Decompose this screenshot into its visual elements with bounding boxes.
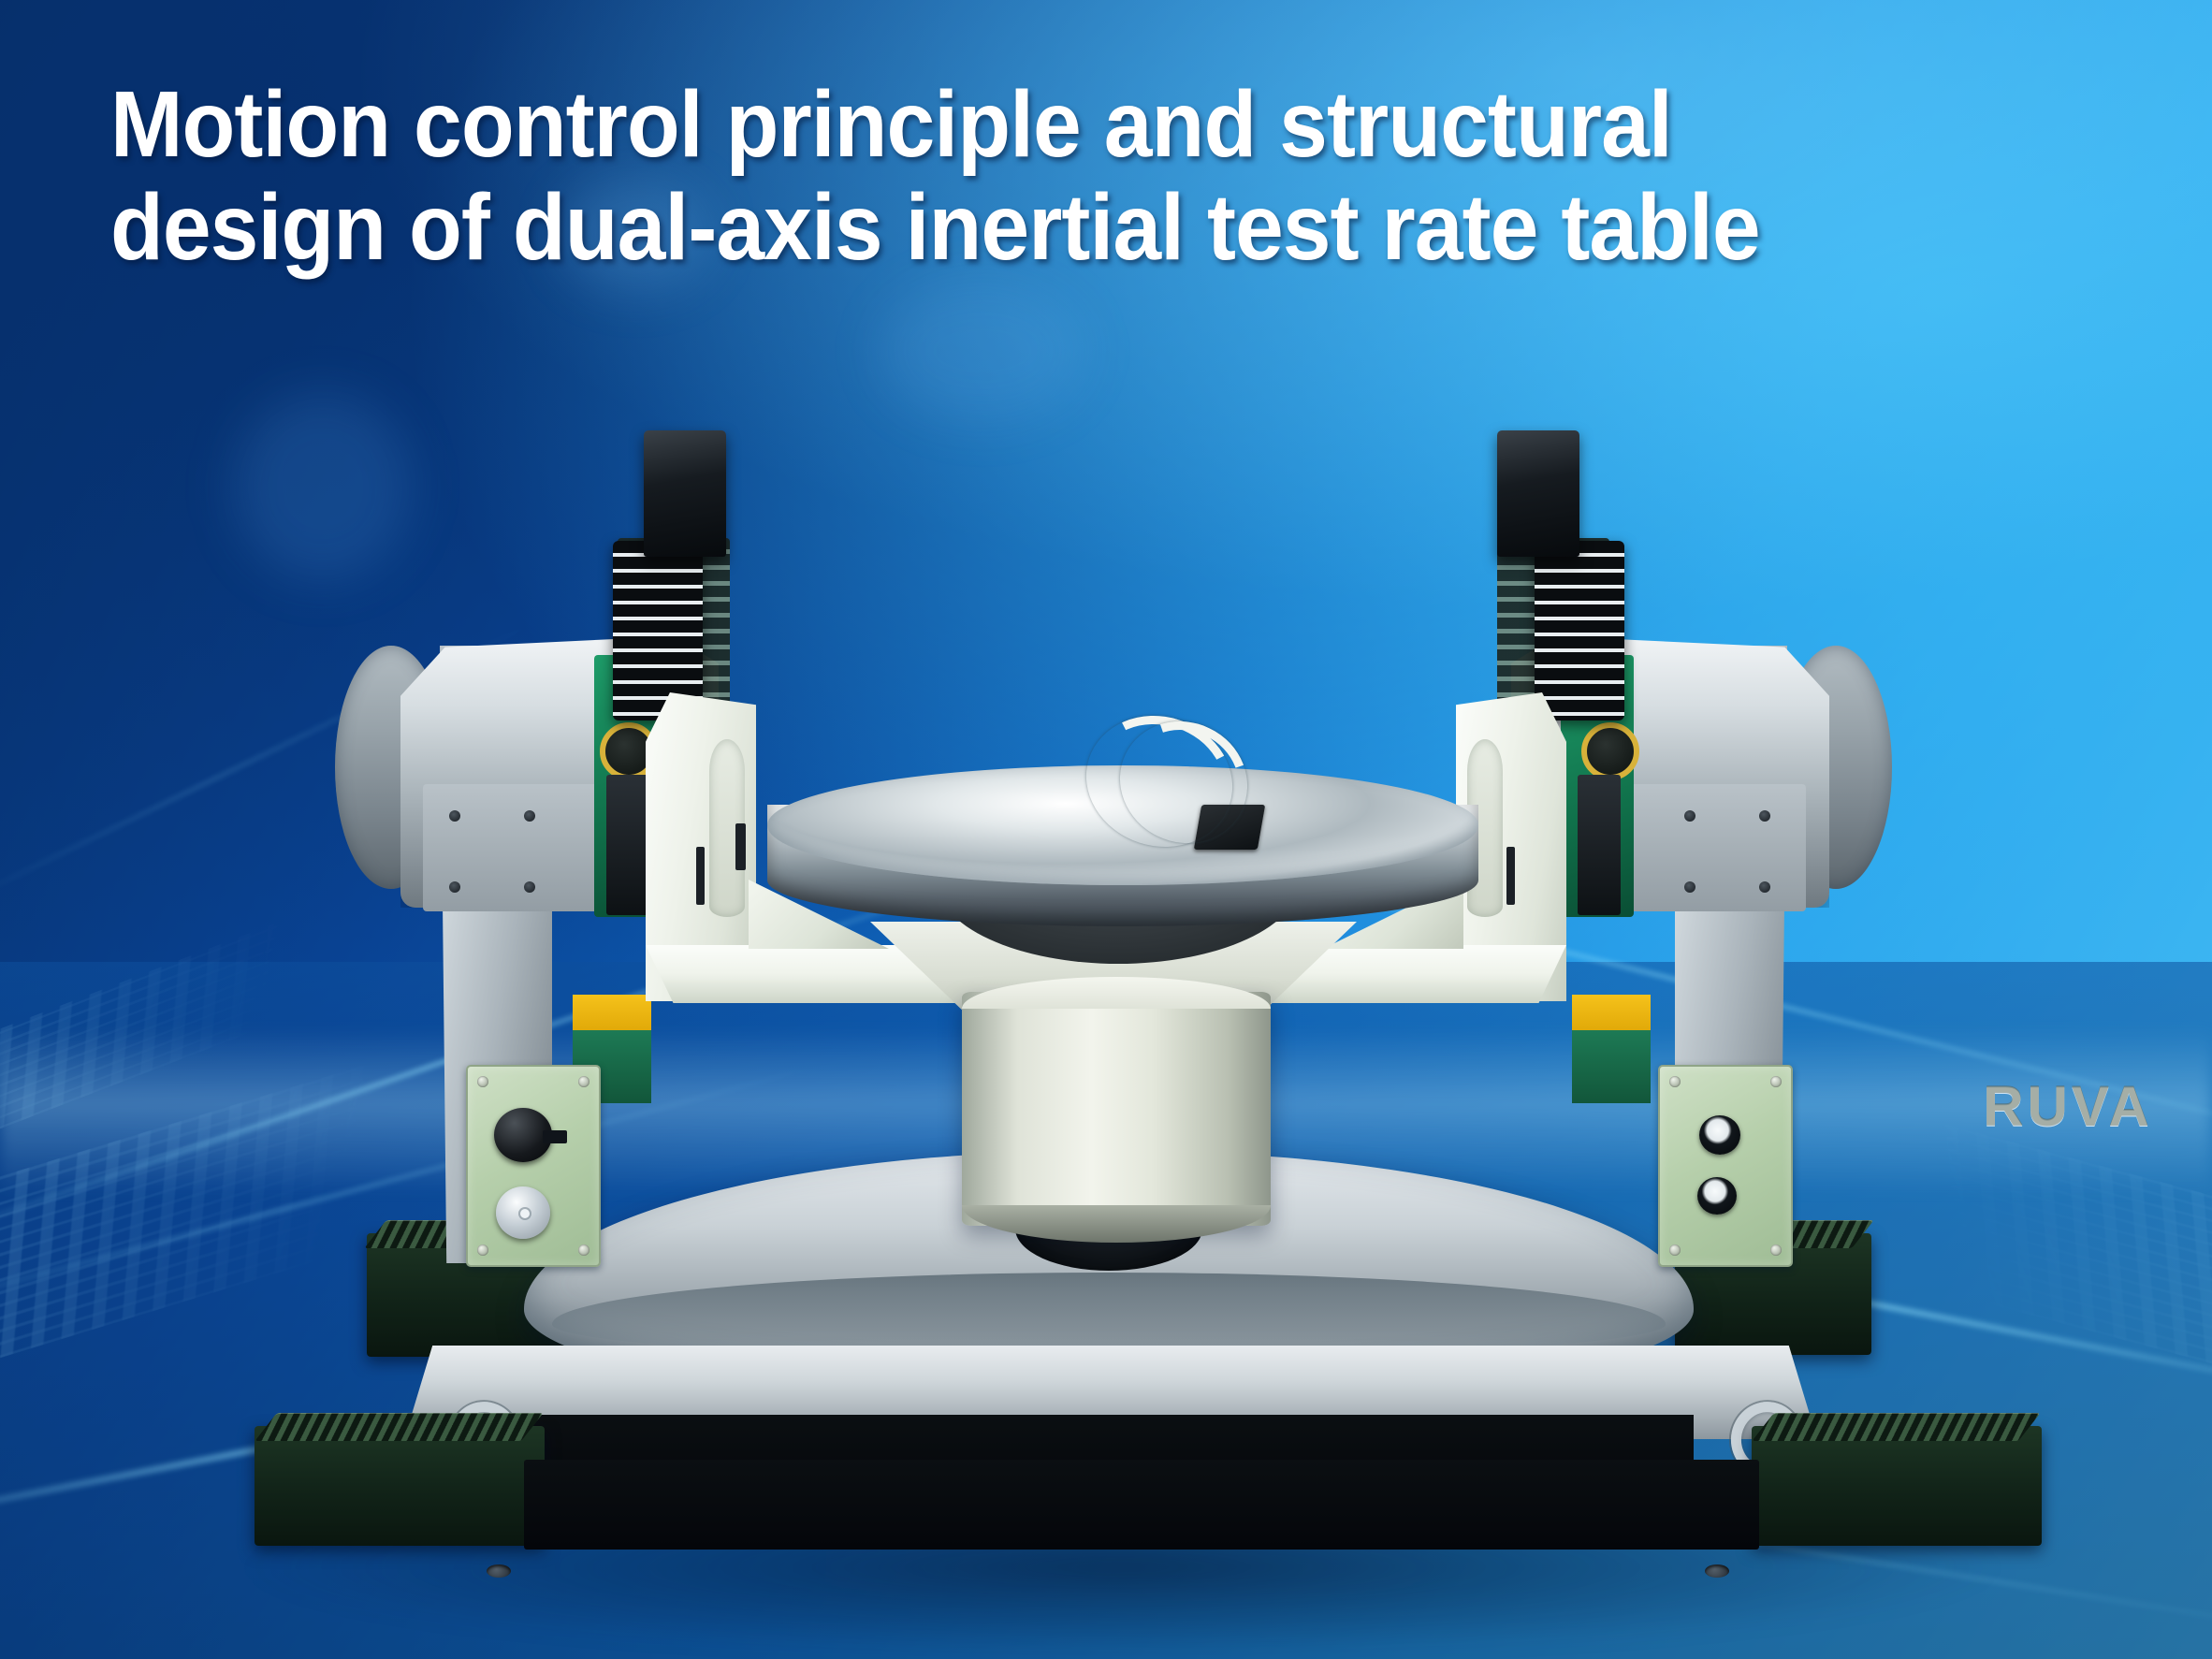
- panel-screw: [1669, 1244, 1681, 1256]
- panel-screw: [1770, 1076, 1782, 1087]
- right-connector-panel[interactable]: [1658, 1065, 1793, 1267]
- motor-bolt-hole: [1759, 881, 1770, 893]
- page-title: Motion control principle and structural …: [110, 73, 1964, 279]
- base-front-rail: [524, 1460, 1759, 1550]
- gimbal-yoke-left-vent: [735, 823, 746, 870]
- panel-screw: [578, 1076, 589, 1087]
- right-heatsink: [1535, 541, 1624, 720]
- right-column-yellow-band: [1572, 995, 1651, 1032]
- motor-bolt-hole: [449, 881, 460, 893]
- panel-screw: [1770, 1244, 1782, 1256]
- motor-bolt-hole: [1684, 810, 1695, 822]
- motor-bolt-hole: [524, 881, 535, 893]
- left-heatsink: [613, 541, 703, 720]
- rotary-knob[interactable]: [494, 1108, 552, 1162]
- foot-grate: [255, 1413, 545, 1441]
- motor-bolt-hole: [1684, 881, 1695, 893]
- left-column-yellow-band: [573, 995, 651, 1032]
- brand-logo-text: RUVA: [1983, 1075, 2153, 1138]
- left-motor-bracket: [606, 775, 649, 915]
- gimbal-yoke-right-vent: [1506, 847, 1515, 905]
- left-connector-panel[interactable]: [466, 1065, 601, 1267]
- slide-canvas: Motion control principle and structural …: [0, 0, 2212, 1659]
- motor-bolt-hole: [1759, 810, 1770, 822]
- signal-port-lower[interactable]: [1697, 1177, 1737, 1215]
- right-motor-connector: [1497, 430, 1579, 557]
- left-motor-connector: [644, 430, 726, 557]
- motor-bolt-hole: [449, 810, 460, 822]
- foot-grate: [1753, 1413, 2042, 1441]
- isolation-foot-front-right: [1752, 1426, 2042, 1546]
- gimbal-yoke-left-vent: [696, 847, 705, 905]
- motor-bolt-hole: [524, 810, 535, 822]
- right-encoder-ring: [1581, 722, 1639, 780]
- base-plate-bolt-hole: [1705, 1564, 1729, 1578]
- power-connector[interactable]: [496, 1186, 550, 1239]
- signal-port-upper[interactable]: [1699, 1115, 1740, 1155]
- panel-screw: [578, 1244, 589, 1256]
- panel-screw: [477, 1244, 488, 1256]
- panel-screw: [477, 1076, 488, 1087]
- right-motor-bracket: [1578, 775, 1621, 915]
- base-plate-bolt-hole: [487, 1564, 511, 1578]
- panel-screw: [1669, 1076, 1681, 1087]
- isolation-foot-front-left: [255, 1426, 545, 1546]
- brand-logo: RUVA: [962, 1074, 2212, 1139]
